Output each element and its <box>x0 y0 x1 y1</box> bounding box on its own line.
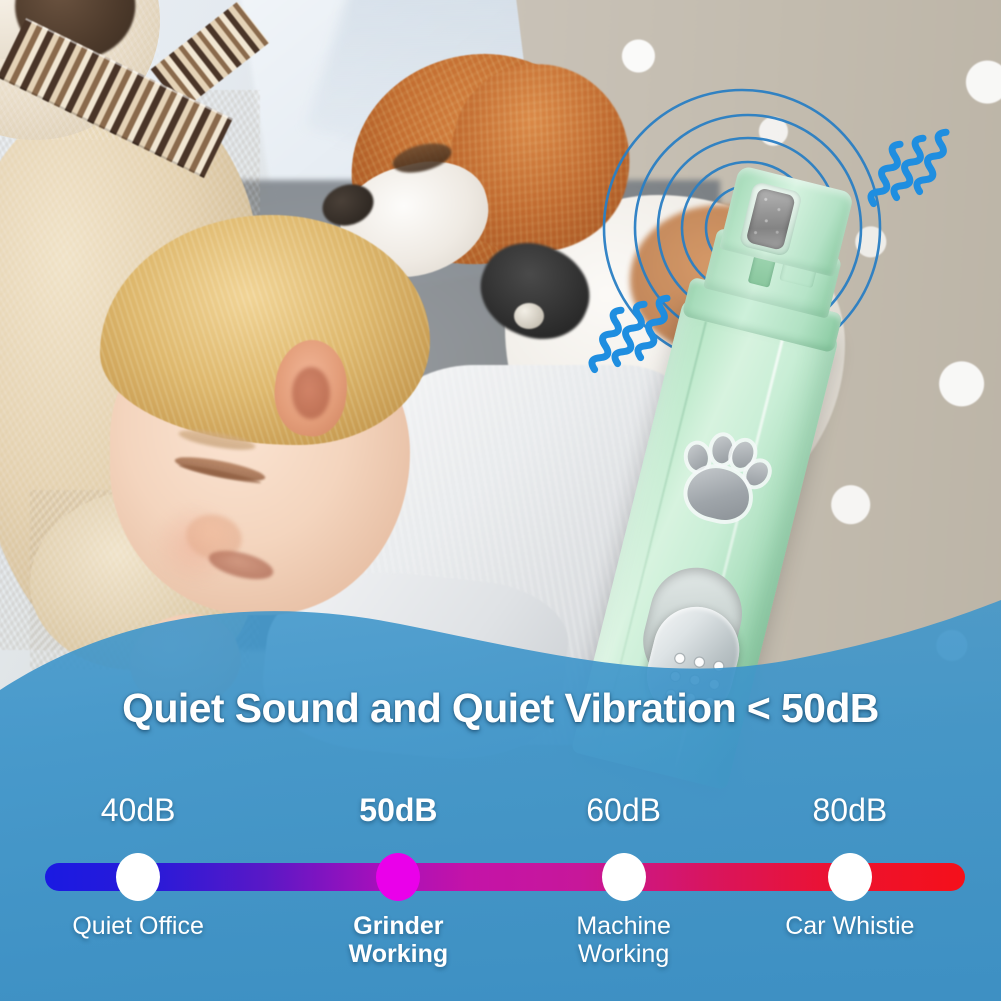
product-infographic: Quiet Sound and Quiet Vibration < 50dB 4… <box>0 0 1001 1001</box>
baby-ear-inner <box>292 367 330 419</box>
paw-pad <box>683 462 755 526</box>
paw-toe <box>686 443 709 472</box>
baby-hair-texture <box>100 215 430 445</box>
sleeping-baby <box>90 215 610 685</box>
photo-scene <box>0 0 1001 1001</box>
baby-hair <box>100 215 430 445</box>
paw-toe <box>711 435 734 464</box>
